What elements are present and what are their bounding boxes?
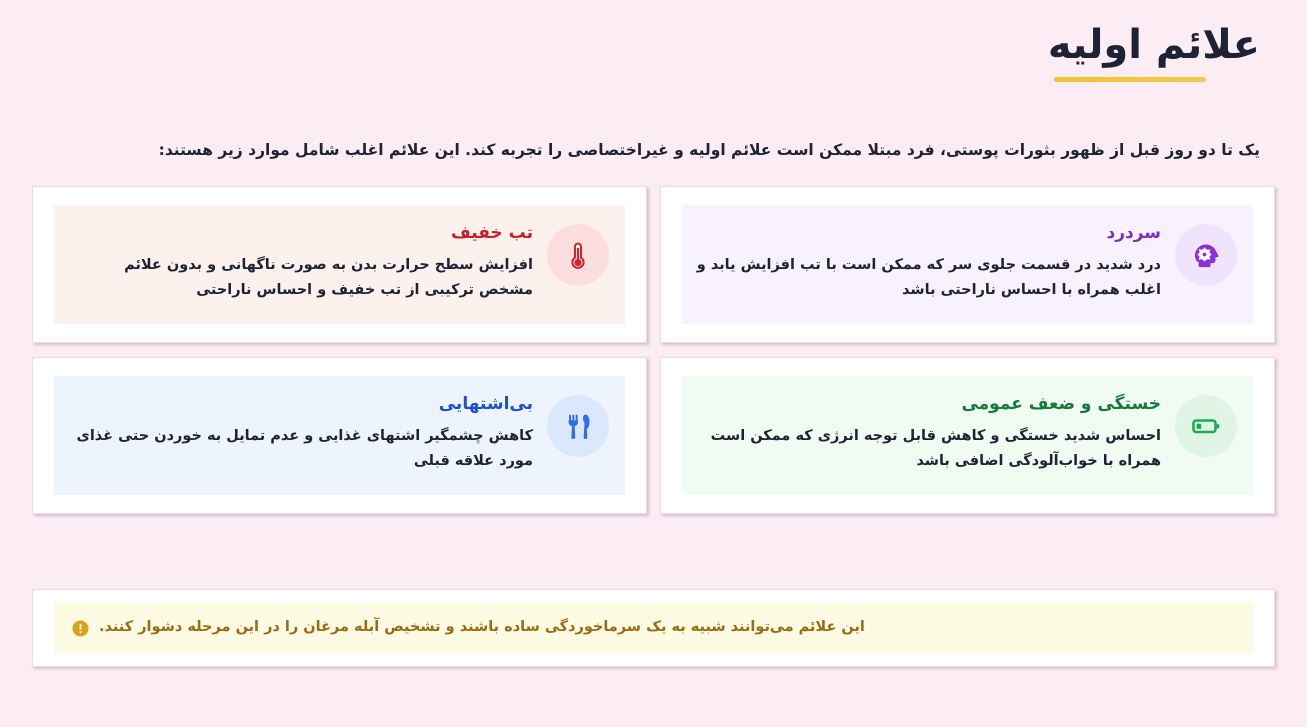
symptom-card-description: افزایش سطح حرارت بدن به صورت ناگهانی و ب… [68, 253, 533, 303]
symptom-card-text: تب خفیف افزایش سطح حرارت بدن به صورت ناگ… [68, 218, 533, 303]
symptom-card-fatigue[interactable]: خستگی و ضعف عمومی احساس شدید خستگی و کاه… [660, 357, 1275, 514]
thermometer-icon [547, 224, 609, 286]
warning-note-text: این علائم می‌توانند شبیه به یک سرماخوردگ… [99, 617, 865, 639]
fork-knife-icon [547, 395, 609, 457]
symptom-card-description: کاهش چشمگیر اشتهای غذایی و عدم تمایل به … [68, 424, 533, 474]
symptom-card-title: تب خفیف [68, 222, 533, 244]
page-title: علائم اولیه [1048, 22, 1260, 68]
low-battery-icon [1175, 395, 1237, 457]
symptom-card-title: سردرد [696, 222, 1161, 244]
symptom-card-title: بی‌اشتهایی [68, 393, 533, 415]
symptom-card-headache[interactable]: سردرد درد شدید در قسمت جلوی سر که ممکن ا… [660, 186, 1275, 343]
symptom-card-description: درد شدید در قسمت جلوی سر که ممکن است با … [696, 253, 1161, 303]
symptom-card-text: سردرد درد شدید در قسمت جلوی سر که ممکن ا… [696, 218, 1161, 303]
symptom-card-title: خستگی و ضعف عمومی [696, 393, 1161, 415]
symptom-card-fever[interactable]: تب خفیف افزایش سطح حرارت بدن به صورت ناگ… [32, 186, 647, 343]
symptom-card-text: بی‌اشتهایی کاهش چشمگیر اشتهای غذایی و عد… [68, 389, 533, 474]
symptom-card-panel: تب خفیف افزایش سطح حرارت بدن به صورت ناگ… [54, 205, 625, 324]
symptom-card-text: خستگی و ضعف عمومی احساس شدید خستگی و کاه… [696, 389, 1161, 474]
warning-note-card: این علائم می‌توانند شبیه به یک سرماخوردگ… [32, 589, 1275, 667]
symptom-card-panel: سردرد درد شدید در قسمت جلوی سر که ممکن ا… [682, 205, 1253, 324]
symptom-card-panel: بی‌اشتهایی کاهش چشمگیر اشتهای غذایی و عد… [54, 376, 625, 495]
warning-circle-icon [72, 620, 89, 637]
title-underline-accent [1054, 77, 1206, 82]
head-gear-icon [1175, 224, 1237, 286]
symptom-card-appetite[interactable]: بی‌اشتهایی کاهش چشمگیر اشتهای غذایی و عد… [32, 357, 647, 514]
intro-paragraph: یک تا دو روز قبل از ظهور بثورات پوستی، ف… [47, 138, 1260, 163]
symptom-cards-grid: سردرد درد شدید در قسمت جلوی سر که ممکن ا… [32, 186, 1275, 514]
page-header: علائم اولیه [1048, 22, 1260, 82]
warning-note-panel: این علائم می‌توانند شبیه به یک سرماخوردگ… [54, 603, 1253, 653]
symptom-card-description: احساس شدید خستگی و کاهش قابل توجه انرژی … [696, 424, 1161, 474]
symptom-card-panel: خستگی و ضعف عمومی احساس شدید خستگی و کاه… [682, 376, 1253, 495]
